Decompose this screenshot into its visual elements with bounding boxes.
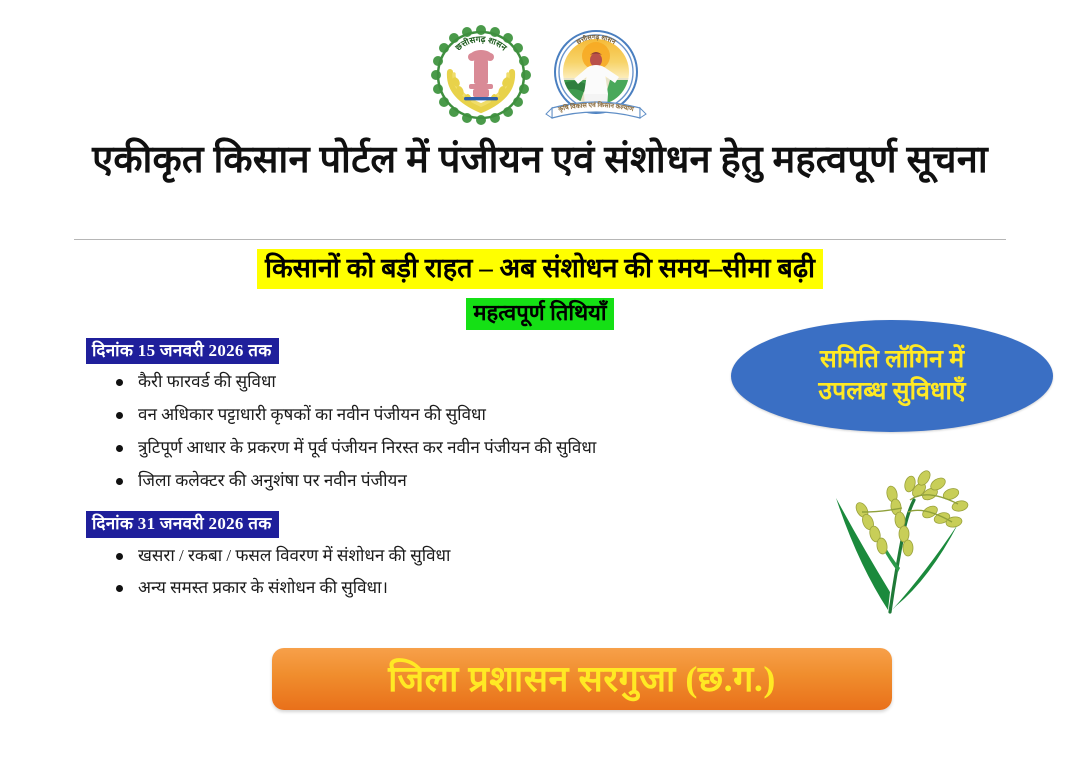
list-item: खसरा / रकबा / फसल विवरण में संशोधन की सु… — [114, 545, 746, 578]
page-title: एकीकृत किसान पोर्टल में पंजीयन एवं संशोध… — [70, 134, 1010, 188]
list-item: त्रुटिपूर्ण आधार के प्रकरण में पूर्व पंज… — [114, 437, 746, 470]
list-item: जिला कलेक्टर की अनुशंषा पर नवीन पंजीयन — [114, 470, 746, 503]
list-item: वन अधिकार पट्टाधारी कृषकों का नवीन पंजीय… — [114, 404, 746, 437]
notice-content: दिनांक 15 जनवरी 2026 तक कैरी फारवर्ड की … — [86, 338, 746, 619]
deadline-list-31-january: खसरा / रकबा / फसल विवरण में संशोधन की सु… — [86, 545, 746, 611]
date-label-15-january: दिनांक 15 जनवरी 2026 तक — [86, 338, 279, 364]
page-title-text: एकीकृत किसान पोर्टल में पंजीयन एवं संशोध… — [70, 134, 1010, 188]
section-january-15: दिनांक 15 जनवरी 2026 तक कैरी फारवर्ड की … — [86, 338, 746, 502]
date-label-31-january: दिनांक 31 जनवरी 2026 तक — [86, 511, 279, 537]
samiti-login-callout: समिति लॉगिन में उपलब्ध सुविधाएँ — [731, 320, 1053, 432]
list-item: अन्य समस्त प्रकार के संशोधन की सुविधा। — [114, 577, 746, 610]
agriculture-department-emblem: कृषि विकास एवं किसान कल्याण छत्तीसगढ़ शा… — [540, 22, 652, 139]
chhattisgarh-government-emblem: छत्तीसगढ़ शासन — [428, 22, 534, 139]
title-divider — [74, 239, 1006, 240]
footer-banner: जिला प्रशासन सरगुजा (छ.ग.) — [272, 648, 892, 710]
dates-heading-highlight: महत्वपूर्ण तिथियाँ — [466, 298, 613, 330]
deadline-list-15-january: कैरी फारवर्ड की सुविधा वन अधिकार पट्टाधा… — [86, 371, 746, 502]
section-january-31: दिनांक 31 जनवरी 2026 तक खसरा / रकबा / फस… — [86, 511, 746, 610]
notice-poster: { "header": { "emblems": [ { "name": "ch… — [0, 0, 1080, 762]
list-item: कैरी फारवर्ड की सुविधा — [114, 371, 746, 404]
footer-banner-text: जिला प्रशासन सरगुजा (छ.ग.) — [388, 661, 776, 697]
callout-line-2: उपलब्ध सुविधाएँ — [818, 376, 965, 408]
subtitle-container: किसानों को बड़ी राहत – अब संशोधन की समय–… — [0, 249, 1080, 289]
paddy-plant-illustration — [818, 460, 1028, 620]
emblem-row: छत्तीसगढ़ शासन — [0, 22, 1080, 139]
subtitle-highlight: किसानों को बड़ी राहत – अब संशोधन की समय–… — [257, 249, 823, 289]
callout-line-1: समिति लॉगिन में — [820, 344, 964, 376]
